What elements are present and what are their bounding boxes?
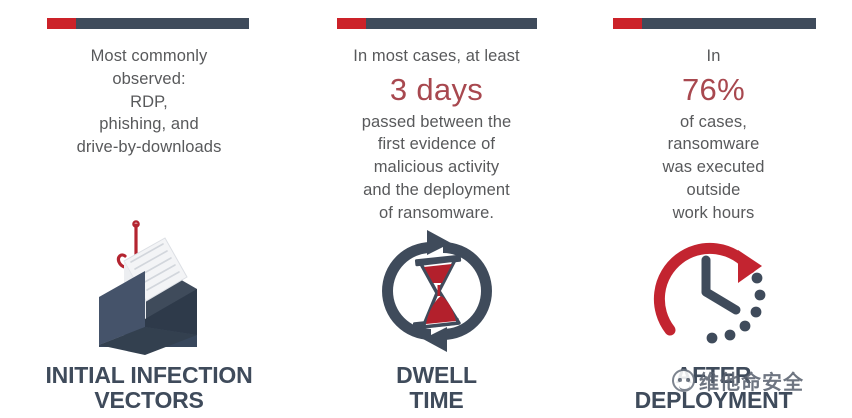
icon-container — [0, 219, 298, 355]
rule-main-segment — [76, 18, 249, 29]
body-line: work hours — [589, 202, 838, 225]
icon-container — [575, 224, 852, 354]
panel-initial-infection-vectors: Most commonly observed: RDP, phishing, a… — [0, 0, 298, 418]
body-line: passed between the — [312, 111, 561, 134]
body-line: ransomware — [589, 133, 838, 156]
stat-value: 76% — [589, 71, 838, 109]
body-line: RDP, — [14, 91, 284, 114]
clock-arrow-icon — [646, 228, 782, 354]
panel-caption: DWELL TIME — [298, 363, 575, 415]
caption-line-1: AFTER — [676, 362, 752, 388]
body-line: of cases, — [589, 111, 838, 134]
body-line: Most commonly — [14, 45, 284, 68]
divider-rule — [337, 18, 537, 29]
body-line: and the deployment — [312, 179, 561, 202]
caption-line-1: DWELL — [396, 362, 477, 388]
body-line: malicious activity — [312, 156, 561, 179]
caption-line-2: VECTORS — [0, 388, 298, 414]
body-line: phishing, and — [14, 113, 284, 136]
body-intro: In — [589, 45, 838, 68]
phishing-envelope-icon — [79, 219, 219, 355]
body-line: drive-by-downloads — [14, 136, 284, 159]
rule-accent-segment — [337, 18, 366, 29]
caption-line-1: INITIAL INFECTION — [45, 362, 252, 388]
body-line: was executed — [589, 156, 838, 179]
caption-line-2: TIME — [298, 388, 575, 414]
panel-caption: INITIAL INFECTION VECTORS — [0, 363, 298, 415]
rule-main-segment — [366, 18, 537, 29]
body-line: first evidence of — [312, 133, 561, 156]
rule-accent-segment — [47, 18, 76, 29]
stat-value: 3 days — [312, 71, 561, 109]
panel-body-text: Most commonly observed: RDP, phishing, a… — [0, 45, 298, 159]
divider-rule — [613, 18, 816, 29]
body-line: observed: — [14, 68, 284, 91]
panel-after-deployment: In 76% of cases, ransomware was executed… — [575, 0, 852, 418]
caption-line-2: DEPLOYMENT — [575, 388, 852, 414]
body-intro: In most cases, at least — [312, 45, 561, 68]
panel-body-text: In most cases, at least 3 days passed be… — [298, 45, 575, 224]
divider-rule — [47, 18, 249, 29]
rule-accent-segment — [613, 18, 642, 29]
infographic-root: Most commonly observed: RDP, phishing, a… — [0, 0, 852, 418]
rule-main-segment — [642, 18, 816, 29]
panel-caption: AFTER DEPLOYMENT — [575, 363, 852, 415]
icon-container — [298, 224, 575, 354]
hourglass-cycle-icon — [375, 228, 499, 354]
body-line: outside — [589, 179, 838, 202]
panel-body-text: In 76% of cases, ransomware was executed… — [575, 45, 852, 224]
panel-dwell-time: In most cases, at least 3 days passed be… — [298, 0, 575, 418]
body-line: of ransomware. — [312, 202, 561, 225]
